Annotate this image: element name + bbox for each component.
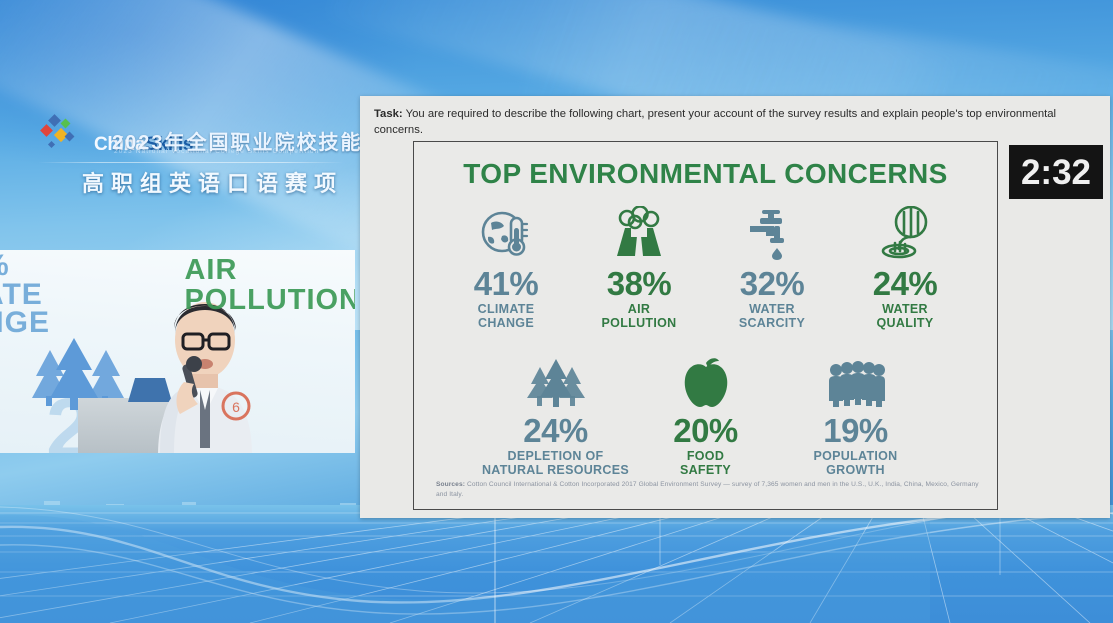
stat-depletion-natural-resources: 24% DEPLETION OF NATURAL RESOURCES — [481, 347, 631, 478]
background-tech-floor — [0, 505, 1113, 623]
chinaskills-branding: ChinaSkills 2023年全国职业院校技能大赛 2023 Nationa… — [24, 104, 354, 196]
competition-broadcast-screen: ChinaSkills 2023年全国职业院校技能大赛 2023 Nationa… — [0, 0, 1113, 623]
infographic-chart: TOP ENVIRONMENTAL CONCERNS — [413, 141, 998, 510]
svg-text:6: 6 — [232, 399, 240, 415]
stat-label: POPULATION GROWTH — [813, 449, 897, 479]
projected-air-pollution-text: AIR POLLUTION — [184, 256, 355, 315]
stat-label: AIR POLLUTION — [602, 302, 677, 332]
stat-climate-change: 41% CLIMATE CHANGE — [440, 200, 573, 331]
stat-percent: 20% — [673, 414, 738, 449]
countdown-timer: 2:32 — [1009, 145, 1103, 199]
event-name-label: 高职组英语口语赛项 — [82, 166, 343, 198]
stat-air-pollution: 38% AIR POLLUTION — [573, 200, 706, 331]
competition-banner-subtitle-en: 2023 National Vocational College Skills … — [114, 148, 319, 155]
stat-percent: 32% — [740, 267, 805, 302]
water-basin-icon — [877, 200, 933, 262]
trees-icon — [527, 347, 585, 409]
stat-label: DEPLETION OF NATURAL RESOURCES — [482, 449, 629, 479]
chart-sources-note: Sources: Cotton Council International & … — [436, 480, 981, 500]
chart-title: TOP ENVIRONMENTAL CONCERNS — [414, 158, 997, 190]
task-text: You are required to describe the followi… — [374, 108, 1056, 136]
background-wave-curves — [0, 505, 1113, 623]
stat-population-growth: 19% POPULATION GROWTH — [781, 347, 931, 478]
stat-row-bottom: 24% DEPLETION OF NATURAL RESOURCES — [414, 347, 997, 478]
task-instruction: Task: You are required to describe the f… — [374, 106, 1084, 139]
sources-text: Cotton Council International & Cotton In… — [436, 481, 979, 498]
stat-label: WATER QUALITY — [877, 302, 934, 332]
task-slide-panel: Task: You are required to describe the f… — [360, 96, 1110, 518]
stat-percent: 41% — [474, 267, 539, 302]
stat-water-quality: 24% WATER QUALITY — [839, 200, 972, 331]
projected-climate-text: % ATE NGE — [0, 252, 50, 338]
branding-divider — [38, 162, 344, 163]
people-group-icon — [827, 347, 885, 409]
stat-water-scarcity: 32% WATER SCARCITY — [706, 200, 839, 331]
sources-label: Sources: — [436, 481, 465, 488]
speaker-video-inset[interactable]: 2 — [0, 250, 355, 453]
timer-value: 2:32 — [1021, 155, 1091, 190]
apple-icon — [681, 347, 731, 409]
stat-percent: 38% — [607, 267, 672, 302]
globe-thermometer-icon — [478, 200, 534, 262]
chinaskills-diamond-icon — [32, 112, 88, 156]
factory-smokestack-icon — [611, 200, 667, 262]
stat-label: CLIMATE CHANGE — [478, 302, 535, 332]
stat-label: FOOD SAFETY — [680, 449, 731, 479]
stat-percent: 24% — [523, 414, 588, 449]
task-label: Task: — [374, 108, 403, 120]
stat-food-safety: 20% FOOD SAFETY — [631, 347, 781, 478]
stat-row-top: 41% CLIMATE CHANGE — [414, 200, 997, 331]
faucet-drip-icon — [744, 200, 800, 262]
stat-percent: 24% — [873, 267, 938, 302]
stat-label: WATER SCARCITY — [739, 302, 805, 332]
stat-percent: 19% — [823, 414, 888, 449]
